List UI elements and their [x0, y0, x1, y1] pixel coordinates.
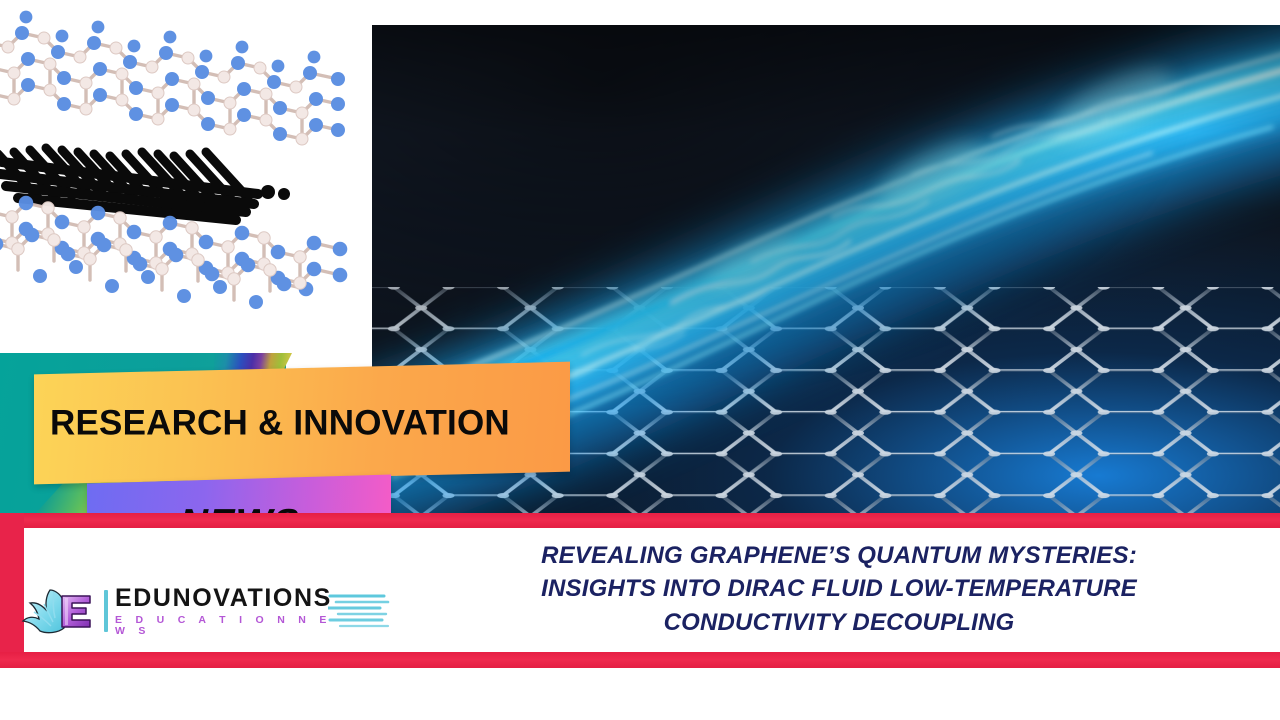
headline: REVEALING GRAPHENE’S QUANTUM MYSTERIES: …: [398, 530, 1280, 648]
headline-line-2: INSIGHTS INTO DIRAC FLUID LOW-TEMPERATUR…: [541, 572, 1137, 606]
logo-divider: [104, 590, 108, 632]
red-accent-bar-bottom: [0, 652, 1280, 668]
logo-title: EDUNOVATIONS: [115, 586, 332, 611]
bottom-white-strip: [0, 668, 1280, 720]
headline-line-3: CONDUCTIVITY DECOUPLING: [664, 606, 1015, 640]
news-thumbnail-canvas: RESEARCH & INNOVATION NEWS: [0, 0, 1280, 720]
category-banner[interactable]: RESEARCH & INNOVATION: [34, 362, 570, 485]
molecular-lattice-icon: [0, 0, 372, 353]
edunovations-leaf-e-icon: [20, 584, 104, 638]
molecular-lattice-illustration: [0, 0, 372, 353]
headline-line-1: REVEALING GRAPHENE’S QUANTUM MYSTERIES:: [541, 539, 1137, 573]
speed-lines-icon: [328, 589, 390, 633]
red-accent-bar-top: [0, 513, 1280, 528]
category-banner-label: RESEARCH & INNOVATION: [34, 404, 510, 444]
edunovations-logo[interactable]: EDUNOVATIONS E D U C A T I O N N E W S: [20, 583, 370, 639]
logo-wordmark: EDUNOVATIONS E D U C A T I O N N E W S: [115, 586, 332, 636]
logo-subtitle: E D U C A T I O N N E W S: [115, 615, 332, 636]
